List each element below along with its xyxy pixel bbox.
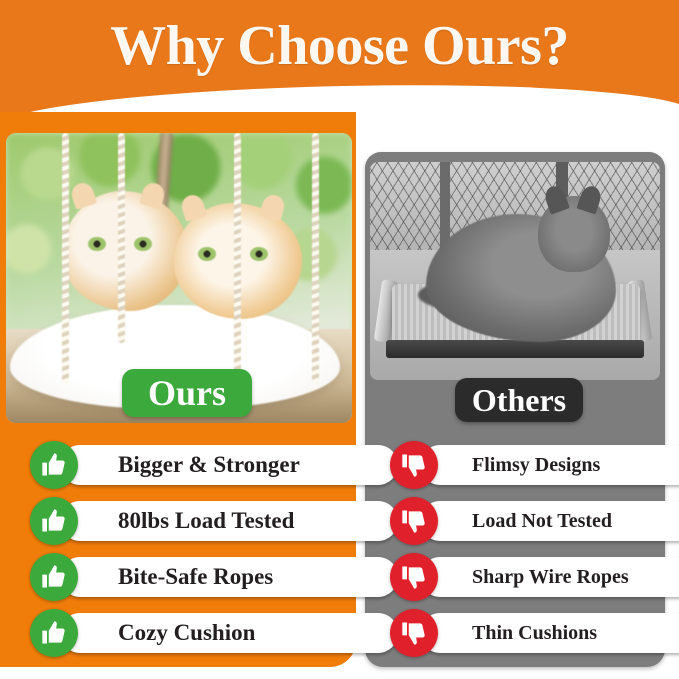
feature-pill: Load Not Tested	[420, 501, 679, 541]
ginger-cat-rear	[62, 191, 188, 311]
ginger-cat-tail	[58, 309, 168, 353]
cat-eye	[134, 237, 152, 251]
feature-pill: Sharp Wire Ropes	[420, 557, 679, 597]
thumbs-up-icon	[30, 497, 78, 545]
swing-rope	[234, 133, 241, 373]
thumbs-down-icon	[390, 441, 438, 489]
feature-pill: 80lbs Load Tested	[60, 501, 398, 541]
swing-rope	[312, 133, 319, 383]
header-wave-divider	[0, 79, 679, 112]
list-item: Sharp Wire Ropes	[390, 553, 648, 609]
bed-frame-bar	[386, 340, 644, 358]
header-banner: Why Choose Ours?	[0, 0, 679, 112]
feature-label: Sharp Wire Ropes	[472, 566, 629, 589]
cat-eye	[88, 237, 106, 251]
list-item: Flimsy Designs	[390, 441, 648, 497]
swing-rope	[62, 133, 69, 383]
thumbs-down-icon	[390, 553, 438, 601]
feature-pill: Bite-Safe Ropes	[60, 557, 398, 597]
list-item: Bigger & Stronger	[30, 441, 340, 497]
cat-eye	[198, 247, 216, 261]
ours-feature-list: Bigger & Stronger 80lbs Load Tested Bite…	[30, 441, 340, 665]
list-item: Bite-Safe Ropes	[30, 553, 340, 609]
swing-rope	[118, 133, 125, 343]
others-product-photo	[370, 162, 660, 380]
gray-cat-head	[538, 196, 610, 272]
feature-pill: Cozy Cushion	[60, 613, 398, 653]
feature-pill: Bigger & Stronger	[60, 445, 398, 485]
comparison-infographic: Why Choose Ours?	[0, 0, 679, 679]
thumbs-up-icon	[30, 553, 78, 601]
feature-label: Flimsy Designs	[472, 454, 600, 477]
feature-pill: Flimsy Designs	[420, 445, 679, 485]
thumbs-up-icon	[30, 609, 78, 657]
feature-label: Bite-Safe Ropes	[118, 564, 273, 590]
list-item: Load Not Tested	[390, 497, 648, 553]
list-item: Thin Cushions	[390, 609, 648, 665]
feature-label: Cozy Cushion	[118, 620, 255, 646]
cat-eye	[250, 247, 268, 261]
page-title: Why Choose Ours?	[0, 14, 679, 78]
others-feature-list: Flimsy Designs Load Not Tested Sharp Wir…	[390, 441, 648, 665]
thumbs-up-icon	[30, 441, 78, 489]
feature-label: Bigger & Stronger	[118, 452, 300, 478]
feature-label: 80lbs Load Tested	[118, 508, 294, 534]
list-item: Cozy Cushion	[30, 609, 340, 665]
thumbs-down-icon	[390, 497, 438, 545]
thumbs-down-icon	[390, 609, 438, 657]
feature-pill: Thin Cushions	[420, 613, 679, 653]
others-badge: Others	[455, 378, 583, 422]
list-item: 80lbs Load Tested	[30, 497, 340, 553]
ours-badge: Ours	[122, 369, 252, 417]
feature-label: Thin Cushions	[472, 622, 597, 645]
feature-label: Load Not Tested	[472, 510, 612, 533]
